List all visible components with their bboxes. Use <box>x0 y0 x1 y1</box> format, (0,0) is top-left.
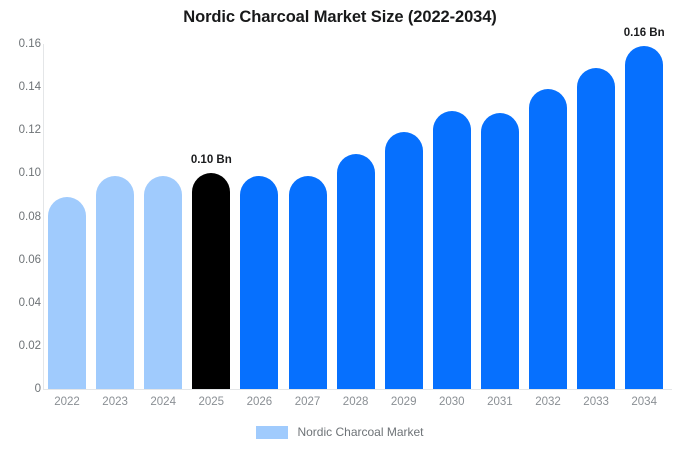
bar-2027[interactable] <box>289 176 327 389</box>
y-tick-label: 0.16 <box>3 38 41 50</box>
bar-slot <box>577 44 615 389</box>
legend-label[interactable]: Nordic Charcoal Market <box>297 425 423 439</box>
y-tick-label: 0.02 <box>3 340 41 352</box>
bar-slot: 0.10 Bn <box>192 44 230 389</box>
bar-2028[interactable] <box>337 154 375 389</box>
bar-2034[interactable]: 0.16 Bn <box>625 46 663 389</box>
bar-2030[interactable] <box>433 111 471 389</box>
bar-2022[interactable] <box>48 197 86 389</box>
bar-slot <box>96 44 134 389</box>
bar-slot <box>240 44 278 389</box>
bar-slot <box>48 44 86 389</box>
bar-2033[interactable] <box>577 68 615 389</box>
bar-2024[interactable] <box>144 176 182 389</box>
chart-title: Nordic Charcoal Market Size (2022-2034) <box>0 8 680 27</box>
bar-slot: 0.16 Bn <box>625 44 663 389</box>
plot-area: 0.10 Bn0.16 Bn <box>44 44 672 389</box>
bar-slot <box>433 44 471 389</box>
bar-2031[interactable] <box>481 113 519 389</box>
bar-slot <box>289 44 327 389</box>
y-tick-label: 0.06 <box>3 254 41 266</box>
x-tick-label-2034: 2034 <box>616 396 672 408</box>
bar-value-label: 0.16 Bn <box>624 27 665 39</box>
bar-2023[interactable] <box>96 176 134 389</box>
y-tick-label: 0 <box>3 383 41 395</box>
x-axis-line <box>43 389 672 390</box>
y-tick-label: 0.14 <box>3 81 41 93</box>
y-tick-label: 0.10 <box>3 167 41 179</box>
y-tick-label: 0.04 <box>3 297 41 309</box>
chart-legend: Nordic Charcoal Market <box>0 425 680 439</box>
bar-chart: Nordic Charcoal Market Size (2022-2034) … <box>0 0 680 450</box>
bar-slot <box>481 44 519 389</box>
legend-swatch[interactable] <box>256 426 288 439</box>
bar-slot <box>337 44 375 389</box>
y-axis-tick-labels: 00.020.040.060.080.100.120.140.16 <box>0 0 41 450</box>
bar-slot <box>144 44 182 389</box>
bar-2026[interactable] <box>240 176 278 389</box>
y-tick-label: 0.08 <box>3 211 41 223</box>
bar-2029[interactable] <box>385 132 423 389</box>
bar-2032[interactable] <box>529 89 567 389</box>
bar-slot <box>385 44 423 389</box>
bar-slot <box>529 44 567 389</box>
y-tick-label: 0.12 <box>3 124 41 136</box>
bar-2025[interactable]: 0.10 Bn <box>192 173 230 389</box>
bar-value-label: 0.10 Bn <box>191 154 232 166</box>
